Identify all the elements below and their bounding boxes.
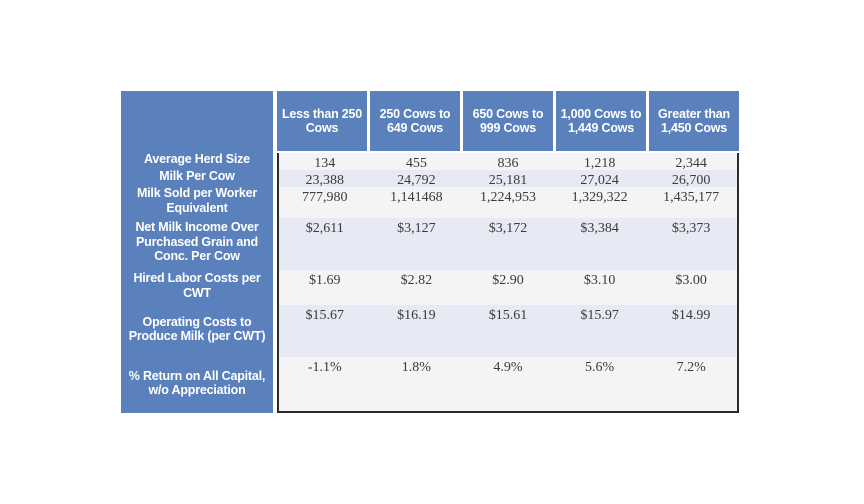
table-cell: 23,388 (279, 170, 371, 187)
table-header-row: Less than 250 Cows250 Cows to 649 Cows65… (277, 91, 739, 151)
table-data-body: 1344558361,2182,34423,38824,79225,18127,… (277, 153, 739, 413)
table-cell: $15.67 (279, 305, 371, 357)
table-cell: 1.8% (371, 357, 463, 413)
slide-canvas: Average Herd SizeMilk Per CowMilk Sold p… (0, 0, 864, 504)
table-cell: 1,218 (554, 153, 646, 170)
table-cell: $14.99 (645, 305, 737, 357)
table-cell: $3,373 (645, 218, 737, 270)
table-cell: 836 (462, 153, 554, 170)
table-cell: 1,141468 (371, 187, 463, 218)
table-row: 1344558361,2182,344 (279, 153, 737, 170)
table-cell: -1.1% (279, 357, 371, 413)
table-cell: $3,384 (554, 218, 646, 270)
row-label: Milk Sold per Worker Equivalent (121, 185, 273, 216)
table-row: 777,9801,1414681,224,9531,329,3221,435,1… (279, 187, 737, 218)
table-cell: 25,181 (462, 170, 554, 187)
table-cell: 1,435,177 (645, 187, 737, 218)
table-cell: $15.97 (554, 305, 646, 357)
table-cell: 4.9% (462, 357, 554, 413)
row-label: Hired Labor Costs per CWT (121, 268, 273, 303)
table-cell: 27,024 (554, 170, 646, 187)
table-cell: $16.19 (371, 305, 463, 357)
column-header-2: 250 Cows to 649 Cows (370, 91, 460, 151)
table-cell: $2.90 (462, 270, 554, 305)
row-label: Net Milk Income Over Purchased Grain and… (121, 216, 273, 268)
table-row: $1.69$2.82$2.90$3.10$3.00 (279, 270, 737, 305)
table-cell: $1.69 (279, 270, 371, 305)
dairy-farm-benchmark-table: Average Herd SizeMilk Per CowMilk Sold p… (121, 91, 739, 413)
table-row: $15.67$16.19$15.61$15.97$14.99 (279, 305, 737, 357)
row-label: Operating Costs to Produce Milk (per CWT… (121, 303, 273, 355)
table-cell: $15.61 (462, 305, 554, 357)
row-label-column: Average Herd SizeMilk Per CowMilk Sold p… (121, 91, 273, 413)
table-row: $2,611$3,127$3,172$3,384$3,373 (279, 218, 737, 270)
table-cell: $2.82 (371, 270, 463, 305)
table-cell: $3,172 (462, 218, 554, 270)
table-cell: 1,329,322 (554, 187, 646, 218)
column-header-5: Greater than 1,450 Cows (649, 91, 739, 151)
table-cell: $3,127 (371, 218, 463, 270)
column-header-3: 650 Cows to 999 Cows (463, 91, 553, 151)
row-label: Milk Per Cow (121, 168, 273, 185)
table-cell: $2,611 (279, 218, 371, 270)
table-cell: 2,344 (645, 153, 737, 170)
table-cell: 24,792 (371, 170, 463, 187)
table-cell: 26,700 (645, 170, 737, 187)
table-corner-cell (121, 91, 273, 151)
table-cell: $3.00 (645, 270, 737, 305)
table-row: -1.1%1.8%4.9%5.6%7.2% (279, 357, 737, 413)
column-header-1: Less than 250 Cows (277, 91, 367, 151)
row-label: Average Herd Size (121, 151, 273, 168)
table-cell: 134 (279, 153, 371, 170)
table-cell: 7.2% (645, 357, 737, 413)
table-cell: 5.6% (554, 357, 646, 413)
table-cell: 1,224,953 (462, 187, 554, 218)
table-cell: $3.10 (554, 270, 646, 305)
table-cell: 777,980 (279, 187, 371, 218)
row-label: % Return on All Capital, w/o Appreciatio… (121, 355, 273, 411)
table-cell: 455 (371, 153, 463, 170)
table-row: 23,38824,79225,18127,02426,700 (279, 170, 737, 187)
column-header-4: 1,000 Cows to 1,449 Cows (556, 91, 646, 151)
